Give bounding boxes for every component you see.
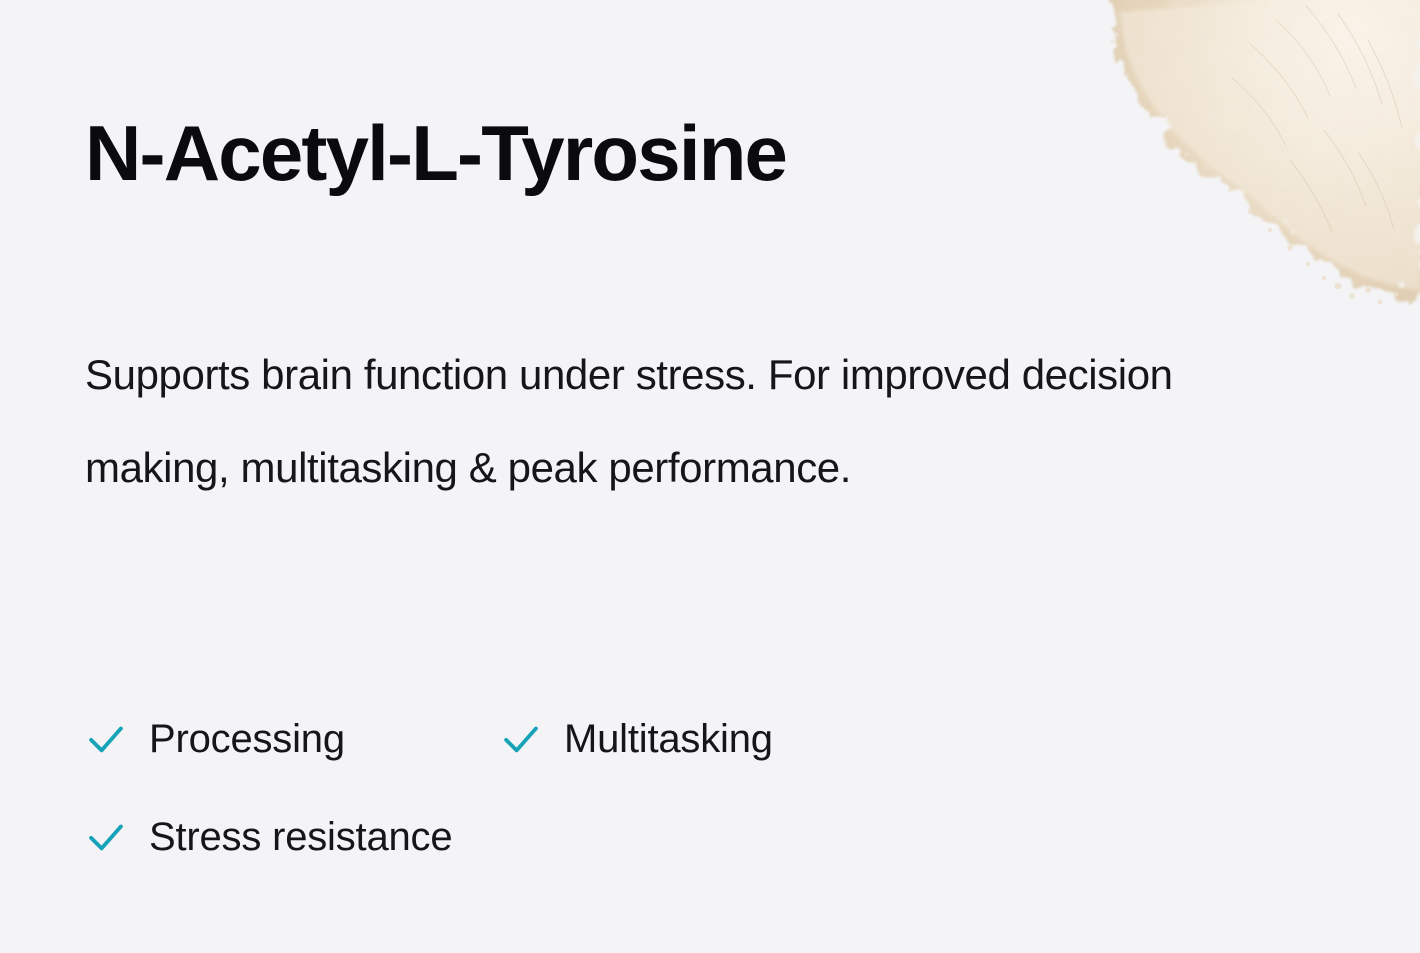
benefit-row: Processing Multitasking <box>85 690 1185 788</box>
list-item-processing: Processing <box>85 717 500 762</box>
check-icon <box>500 718 542 760</box>
check-icon <box>85 816 127 858</box>
powder-heap-image <box>1080 0 1420 320</box>
check-icon <box>85 718 127 760</box>
benefits-list: Processing Multitasking <box>85 690 1185 886</box>
powder-heap-graphic <box>1080 0 1420 320</box>
product-ingredient-card: N-Acetyl-L-Tyrosine Supports brain funct… <box>0 0 1420 953</box>
description-text: Supports brain function under stress. Fo… <box>85 328 1275 514</box>
list-item-stress-resistance: Stress resistance <box>85 815 452 860</box>
benefit-label: Multitasking <box>564 717 773 762</box>
benefit-row: Stress resistance <box>85 788 1185 886</box>
list-item-multitasking: Multitasking <box>500 717 773 762</box>
benefit-label: Processing <box>149 717 345 762</box>
benefit-label: Stress resistance <box>149 815 452 860</box>
page-title: N-Acetyl-L-Tyrosine <box>85 113 786 195</box>
